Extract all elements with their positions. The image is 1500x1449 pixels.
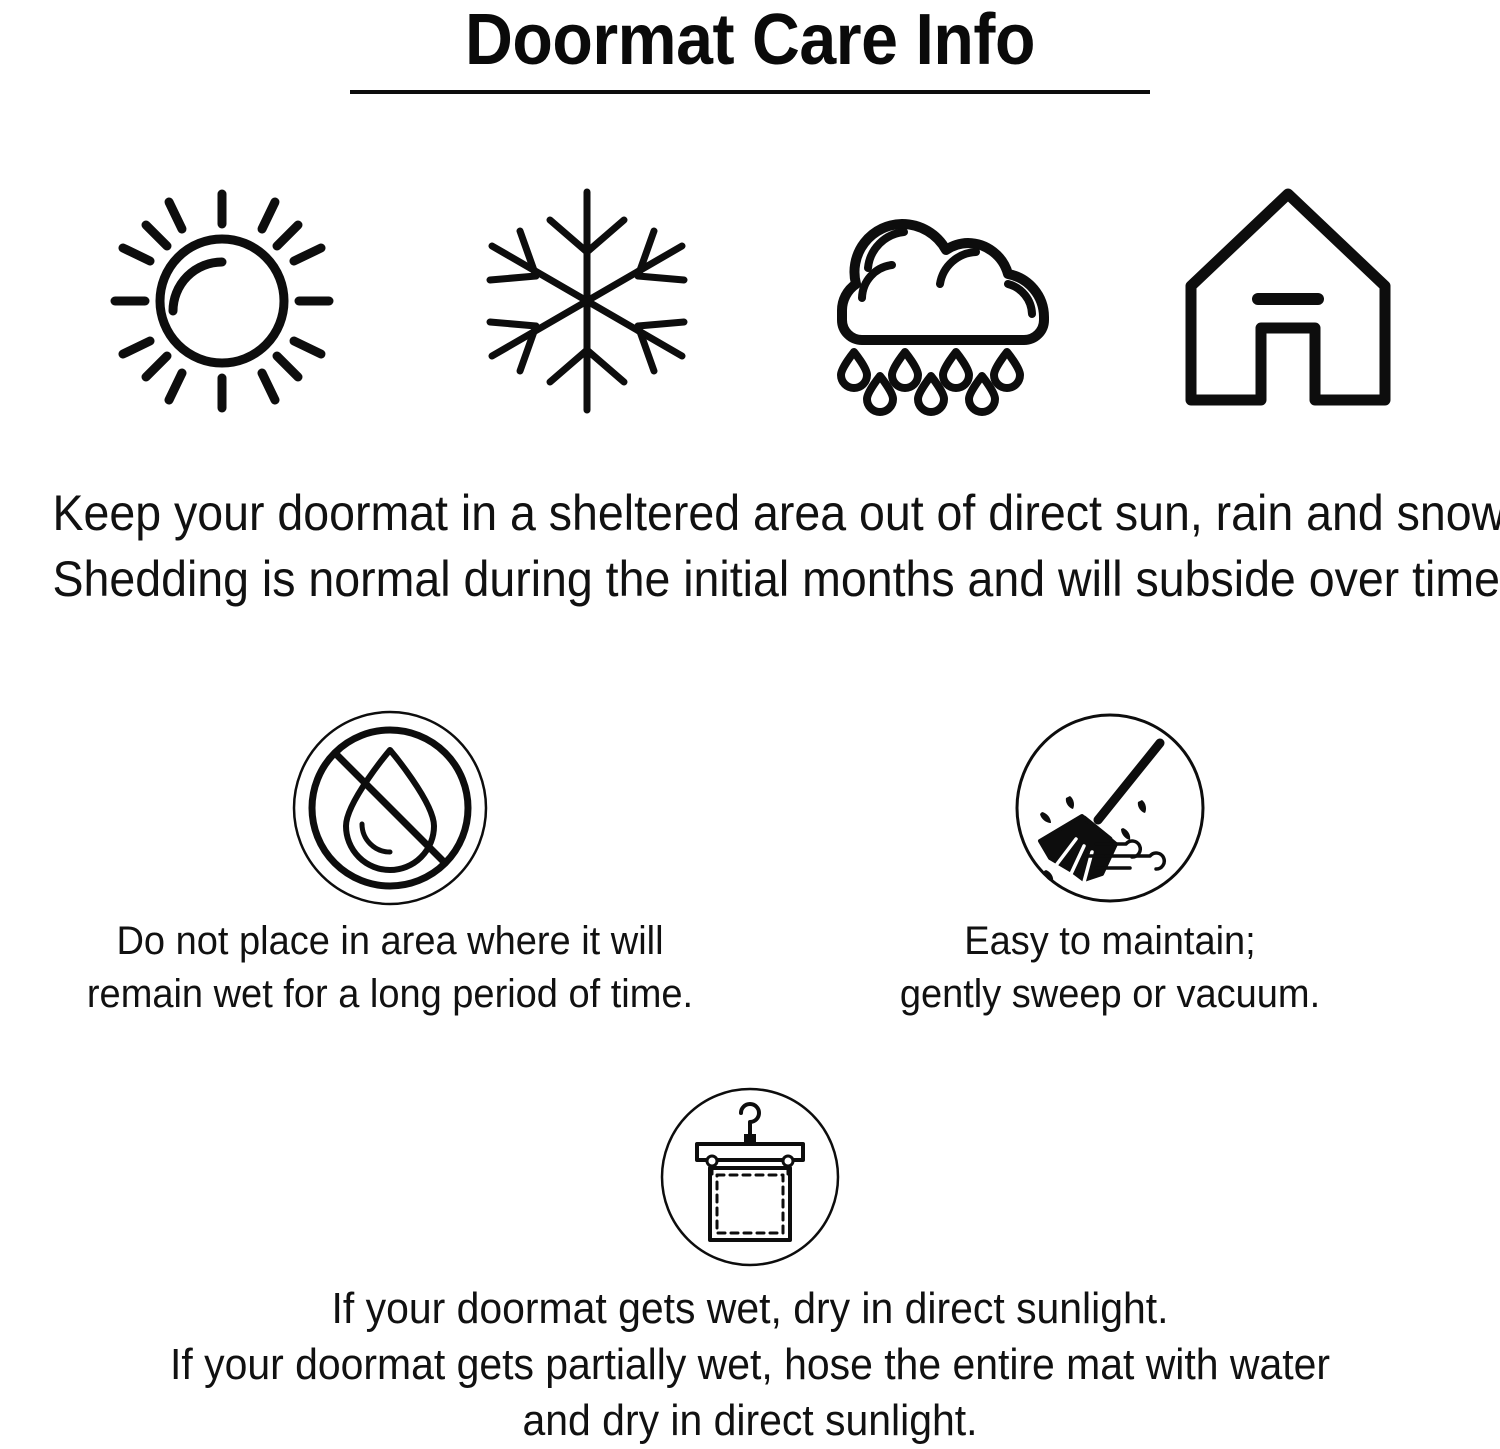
care-item-sweep: Easy to maintain; gently sweep or vacuum… — [760, 700, 1460, 1021]
hang-to-dry-icon — [0, 1074, 1500, 1279]
sweep-line-1: Easy to maintain; — [778, 915, 1443, 968]
title-underline-rule — [350, 90, 1150, 94]
dry-caption: If your doormat gets wet, dry in direct … — [53, 1279, 1448, 1449]
house-icon — [1163, 176, 1413, 426]
weather-icon-row — [0, 176, 1500, 426]
no-water-line-2: remain wet for a long period of time. — [58, 968, 723, 1021]
dry-line-3: and dry in direct sunlight. — [53, 1393, 1448, 1449]
lead-line-2: Shedding is normal during the initial mo… — [53, 546, 1448, 612]
no-water-line-1: Do not place in area where it will — [58, 915, 723, 968]
snowflake-icon — [462, 176, 712, 426]
lead-paragraph: Keep your doormat in a sheltered area ou… — [53, 480, 1448, 612]
no-water-icon — [40, 700, 740, 915]
dry-line-2: If your doormat gets partially wet, hose… — [53, 1337, 1448, 1393]
sweep-line-2: gently sweep or vacuum. — [778, 968, 1443, 1021]
page-title: Doormat Care Info — [60, 0, 1440, 78]
dry-line-1: If your doormat gets wet, dry in direct … — [53, 1281, 1448, 1337]
broom-sweep-icon — [760, 700, 1460, 915]
sweep-caption: Easy to maintain; gently sweep or vacuum… — [778, 915, 1443, 1021]
dry-section: If your doormat gets wet, dry in direct … — [0, 1074, 1500, 1449]
lead-line-1: Keep your doormat in a sheltered area ou… — [53, 480, 1448, 546]
care-row: Do not place in area where it will remai… — [0, 700, 1500, 1020]
rain-cloud-icon — [812, 176, 1062, 426]
care-item-no-water: Do not place in area where it will remai… — [40, 700, 740, 1021]
sun-icon — [97, 176, 347, 426]
header: Doormat Care Info — [0, 0, 1500, 94]
no-water-caption: Do not place in area where it will remai… — [58, 915, 723, 1021]
